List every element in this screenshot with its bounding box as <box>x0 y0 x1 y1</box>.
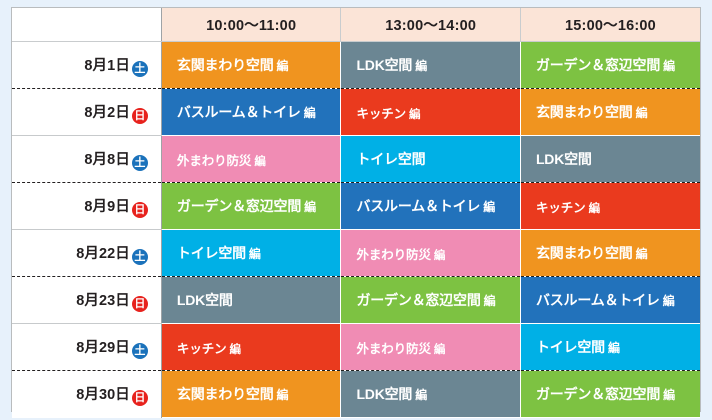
program-suffix: 編 <box>636 106 648 120</box>
program-name: ガーデン＆窓辺空間 <box>356 292 480 308</box>
date-cell: 8月2日日 <box>12 89 161 136</box>
program-name: 外まわり防災 <box>356 248 430 262</box>
program-cell[interactable]: LDK空間編 <box>341 42 521 89</box>
program-name: 玄関まわり空間 <box>536 245 633 261</box>
header-timeslot-3: 15:00〜16:00 <box>520 8 700 42</box>
table-row: 8月1日土玄関まわり空間編LDK空間編ガーデン＆窓辺空間編 <box>12 42 700 89</box>
program-suffix: 編 <box>415 59 427 73</box>
program-name: トイレ空間 <box>536 339 605 355</box>
program-suffix: 編 <box>608 341 620 355</box>
program-cell[interactable]: 玄関まわり空間編 <box>520 89 700 136</box>
date-label: 8月30日 <box>76 387 130 403</box>
program-title: 外まわり防災編 <box>356 338 520 357</box>
header-timeslot-2: 13:00〜14:00 <box>341 8 521 42</box>
program-suffix: 編 <box>663 294 675 308</box>
schedule-panel: 10:00〜11:00 13:00〜14:00 15:00〜16:00 8月1日… <box>11 7 701 412</box>
program-cell[interactable]: トイレ空間編 <box>161 230 341 277</box>
program-name: キッチン <box>356 107 406 121</box>
date-label: 8月8日 <box>84 152 130 168</box>
program-suffix: 編 <box>415 388 427 402</box>
program-name: ガーデン＆窓辺空間 <box>536 386 660 402</box>
program-title: トイレ空間 <box>356 149 520 169</box>
saturday-badge-icon: 土 <box>132 249 148 265</box>
program-title: ガーデン＆窓辺空間編 <box>356 290 520 310</box>
sunday-badge-icon: 日 <box>132 296 148 312</box>
program-title: ガーデン＆窓辺空間編 <box>177 196 341 216</box>
date-label: 8月9日 <box>84 199 130 215</box>
header-row: 10:00〜11:00 13:00〜14:00 15:00〜16:00 <box>12 8 700 42</box>
program-name: キッチン <box>536 201 586 215</box>
program-title: 外まわり防災編 <box>356 244 520 263</box>
saturday-badge-icon: 土 <box>132 155 148 171</box>
program-title: キッチン編 <box>356 103 520 122</box>
program-cell[interactable]: LDK空間編 <box>341 371 521 418</box>
program-suffix: 編 <box>589 203 600 215</box>
table-body: 8月1日土玄関まわり空間編LDK空間編ガーデン＆窓辺空間編8月2日日バスルーム＆… <box>12 42 700 418</box>
program-suffix: 編 <box>409 109 420 121</box>
program-name: 外まわり防災 <box>356 342 430 356</box>
date-cell: 8月29日土 <box>12 324 161 371</box>
date-cell: 8月9日日 <box>12 183 161 230</box>
program-name: 玄関まわり空間 <box>536 104 633 120</box>
program-cell[interactable]: キッチン編 <box>161 324 341 371</box>
table-row: 8月9日日ガーデン＆窓辺空間編バスルーム＆トイレ編キッチン編 <box>12 183 700 230</box>
program-title: LDK空間 <box>177 290 341 310</box>
program-suffix: 編 <box>304 200 316 214</box>
program-name: バスルーム＆トイレ <box>536 292 660 308</box>
program-cell[interactable]: 外まわり防災編 <box>341 324 521 371</box>
table-row: 8月23日日LDK空間ガーデン＆窓辺空間編バスルーム＆トイレ編 <box>12 277 700 324</box>
sunday-badge-icon: 日 <box>132 108 148 124</box>
program-name: トイレ空間 <box>356 151 425 167</box>
program-suffix: 編 <box>663 388 675 402</box>
program-cell[interactable]: キッチン編 <box>520 183 700 230</box>
program-title: 外まわり防災編 <box>177 150 341 169</box>
program-name: トイレ空間 <box>177 245 246 261</box>
program-name: LDK空間 <box>536 151 592 167</box>
program-suffix: 編 <box>254 156 265 168</box>
program-title: バスルーム＆トイレ編 <box>536 290 700 310</box>
program-cell[interactable]: 外まわり防災編 <box>341 230 521 277</box>
date-label: 8月2日 <box>84 105 130 121</box>
sunday-badge-icon: 日 <box>132 390 148 406</box>
date-cell: 8月30日日 <box>12 371 161 418</box>
date-label: 8月23日 <box>76 293 130 309</box>
program-cell[interactable]: ガーデン＆窓辺空間編 <box>161 183 341 230</box>
program-name: LDK空間 <box>356 386 412 402</box>
program-cell[interactable]: バスルーム＆トイレ編 <box>161 89 341 136</box>
program-suffix: 編 <box>636 247 648 261</box>
program-title: 玄関まわり空間編 <box>177 55 341 75</box>
program-name: バスルーム＆トイレ <box>356 198 480 214</box>
program-name: LDK空間 <box>177 292 233 308</box>
program-title: バスルーム＆トイレ編 <box>356 196 520 216</box>
program-name: LDK空間 <box>356 57 412 73</box>
program-title: トイレ空間編 <box>536 337 700 357</box>
program-cell[interactable]: バスルーム＆トイレ編 <box>341 183 521 230</box>
header-timeslot-1: 10:00〜11:00 <box>161 8 341 42</box>
table-header: 10:00〜11:00 13:00〜14:00 15:00〜16:00 <box>12 8 700 42</box>
program-name: バスルーム＆トイレ <box>177 104 301 120</box>
program-title: 玄関まわり空間編 <box>177 384 341 404</box>
program-cell[interactable]: 玄関まわり空間編 <box>161 371 341 418</box>
program-suffix: 編 <box>230 344 241 356</box>
program-cell[interactable]: LDK空間 <box>520 136 700 183</box>
program-cell[interactable]: 外まわり防災編 <box>161 136 341 183</box>
program-suffix: 編 <box>483 200 495 214</box>
program-cell[interactable]: バスルーム＆トイレ編 <box>520 277 700 324</box>
date-label: 8月1日 <box>84 58 130 74</box>
program-name: ガーデン＆窓辺空間 <box>177 198 301 214</box>
program-title: ガーデン＆窓辺空間編 <box>536 384 700 404</box>
program-title: キッチン編 <box>177 338 341 357</box>
saturday-badge-icon: 土 <box>132 343 148 359</box>
program-cell[interactable]: 玄関まわり空間編 <box>161 42 341 89</box>
program-suffix: 編 <box>434 344 445 356</box>
program-cell[interactable]: キッチン編 <box>341 89 521 136</box>
program-cell[interactable]: LDK空間 <box>161 277 341 324</box>
program-title: バスルーム＆トイレ編 <box>177 102 341 122</box>
table-row: 8月8日土外まわり防災編トイレ空間LDK空間 <box>12 136 700 183</box>
sunday-badge-icon: 日 <box>132 202 148 218</box>
program-cell[interactable]: トイレ空間 <box>341 136 521 183</box>
program-suffix: 編 <box>484 294 496 308</box>
program-cell[interactable]: ガーデン＆窓辺空間編 <box>520 371 700 418</box>
header-corner-cell <box>12 8 161 42</box>
program-name: 外まわり防災 <box>177 154 251 168</box>
program-cell[interactable]: トイレ空間編 <box>520 324 700 371</box>
program-title: LDK空間 <box>536 149 700 169</box>
table-row: 8月2日日バスルーム＆トイレ編キッチン編玄関まわり空間編 <box>12 89 700 136</box>
date-cell: 8月8日土 <box>12 136 161 183</box>
table-row: 8月29日土キッチン編外まわり防災編トイレ空間編 <box>12 324 700 371</box>
program-title: トイレ空間編 <box>177 243 341 263</box>
saturday-badge-icon: 土 <box>132 61 148 77</box>
program-suffix: 編 <box>277 59 289 73</box>
program-cell[interactable]: ガーデン＆窓辺空間編 <box>341 277 521 324</box>
program-name: ガーデン＆窓辺空間 <box>536 57 660 73</box>
table-row: 8月30日日玄関まわり空間編LDK空間編ガーデン＆窓辺空間編 <box>12 371 700 418</box>
program-suffix: 編 <box>249 247 261 261</box>
program-suffix: 編 <box>277 388 289 402</box>
date-label: 8月22日 <box>76 246 130 262</box>
program-title: 玄関まわり空間編 <box>536 243 700 263</box>
program-title: キッチン編 <box>536 197 700 216</box>
schedule-table: 10:00〜11:00 13:00〜14:00 15:00〜16:00 8月1日… <box>12 8 700 418</box>
program-suffix: 編 <box>663 59 675 73</box>
date-cell: 8月23日日 <box>12 277 161 324</box>
program-suffix: 編 <box>304 106 316 120</box>
table-row: 8月22日土トイレ空間編外まわり防災編玄関まわり空間編 <box>12 230 700 277</box>
program-name: 玄関まわり空間 <box>177 386 274 402</box>
program-cell[interactable]: ガーデン＆窓辺空間編 <box>520 42 700 89</box>
program-name: 玄関まわり空間 <box>177 57 274 73</box>
program-name: キッチン <box>177 342 227 356</box>
program-title: LDK空間編 <box>356 384 520 404</box>
date-cell: 8月1日土 <box>12 42 161 89</box>
date-label: 8月29日 <box>76 340 130 356</box>
program-suffix: 編 <box>434 250 445 262</box>
date-cell: 8月22日土 <box>12 230 161 277</box>
program-cell[interactable]: 玄関まわり空間編 <box>520 230 700 277</box>
program-title: LDK空間編 <box>356 55 520 75</box>
program-title: 玄関まわり空間編 <box>536 102 700 122</box>
program-title: ガーデン＆窓辺空間編 <box>536 55 700 75</box>
